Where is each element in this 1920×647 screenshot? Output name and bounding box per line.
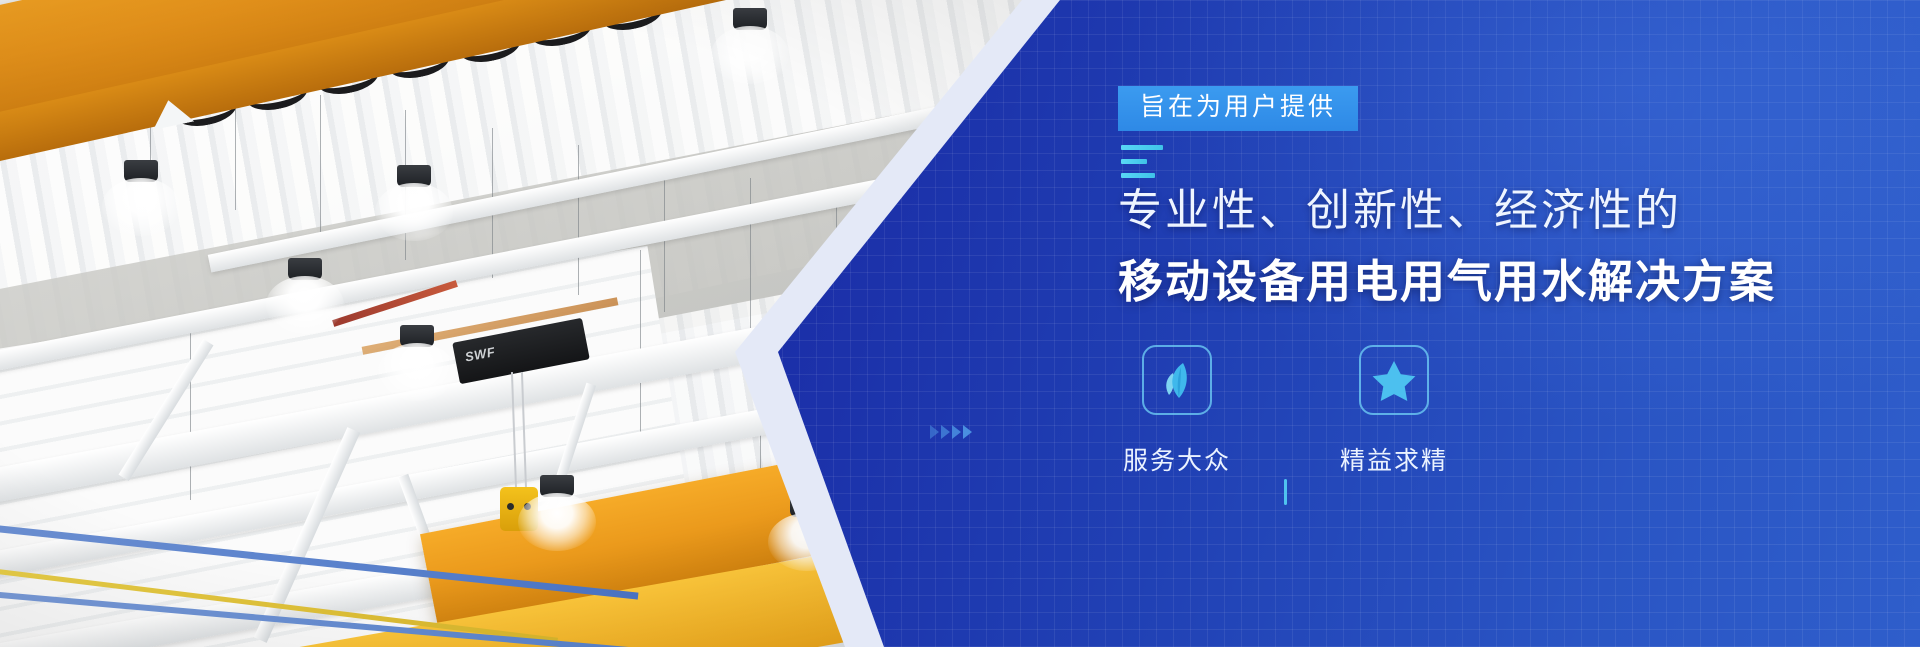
banner-content: 旨在为用户提供 专业性、创新性、经济性的 移动设备用电用气用水解决方案 服务大众 (1118, 0, 1878, 647)
three-bars-icon (1121, 145, 1181, 187)
feature-label-service: 服务大众 (1123, 441, 1231, 477)
chevron-1 (930, 425, 939, 439)
bar-2 (1121, 159, 1147, 164)
leaf-icon-box (1142, 345, 1212, 415)
headline-line-1: 专业性、创新性、经济性的 (1118, 183, 1682, 239)
chevron-2 (941, 425, 950, 439)
feature-divider (1284, 479, 1287, 505)
leaf-icon (1157, 359, 1197, 401)
star-icon-box (1359, 345, 1429, 415)
feature-item-excellence: 精益求精 (1335, 345, 1453, 477)
banner-tag-badge: 旨在为用户提供 (1118, 86, 1358, 131)
chevron-3 (952, 425, 961, 439)
feature-list: 服务大众 精益求精 (1118, 345, 1453, 505)
bar-3 (1121, 173, 1155, 178)
double-chevron-right-icon (930, 425, 972, 439)
bar-1 (1121, 145, 1163, 150)
chevron-4 (963, 425, 972, 439)
headline-line-2: 移动设备用电用气用水解决方案 (1118, 253, 1776, 311)
star-icon (1372, 359, 1416, 401)
hero-banner: SWF (0, 0, 1920, 647)
feature-label-excellence: 精益求精 (1340, 441, 1448, 477)
feature-item-service: 服务大众 (1118, 345, 1236, 477)
